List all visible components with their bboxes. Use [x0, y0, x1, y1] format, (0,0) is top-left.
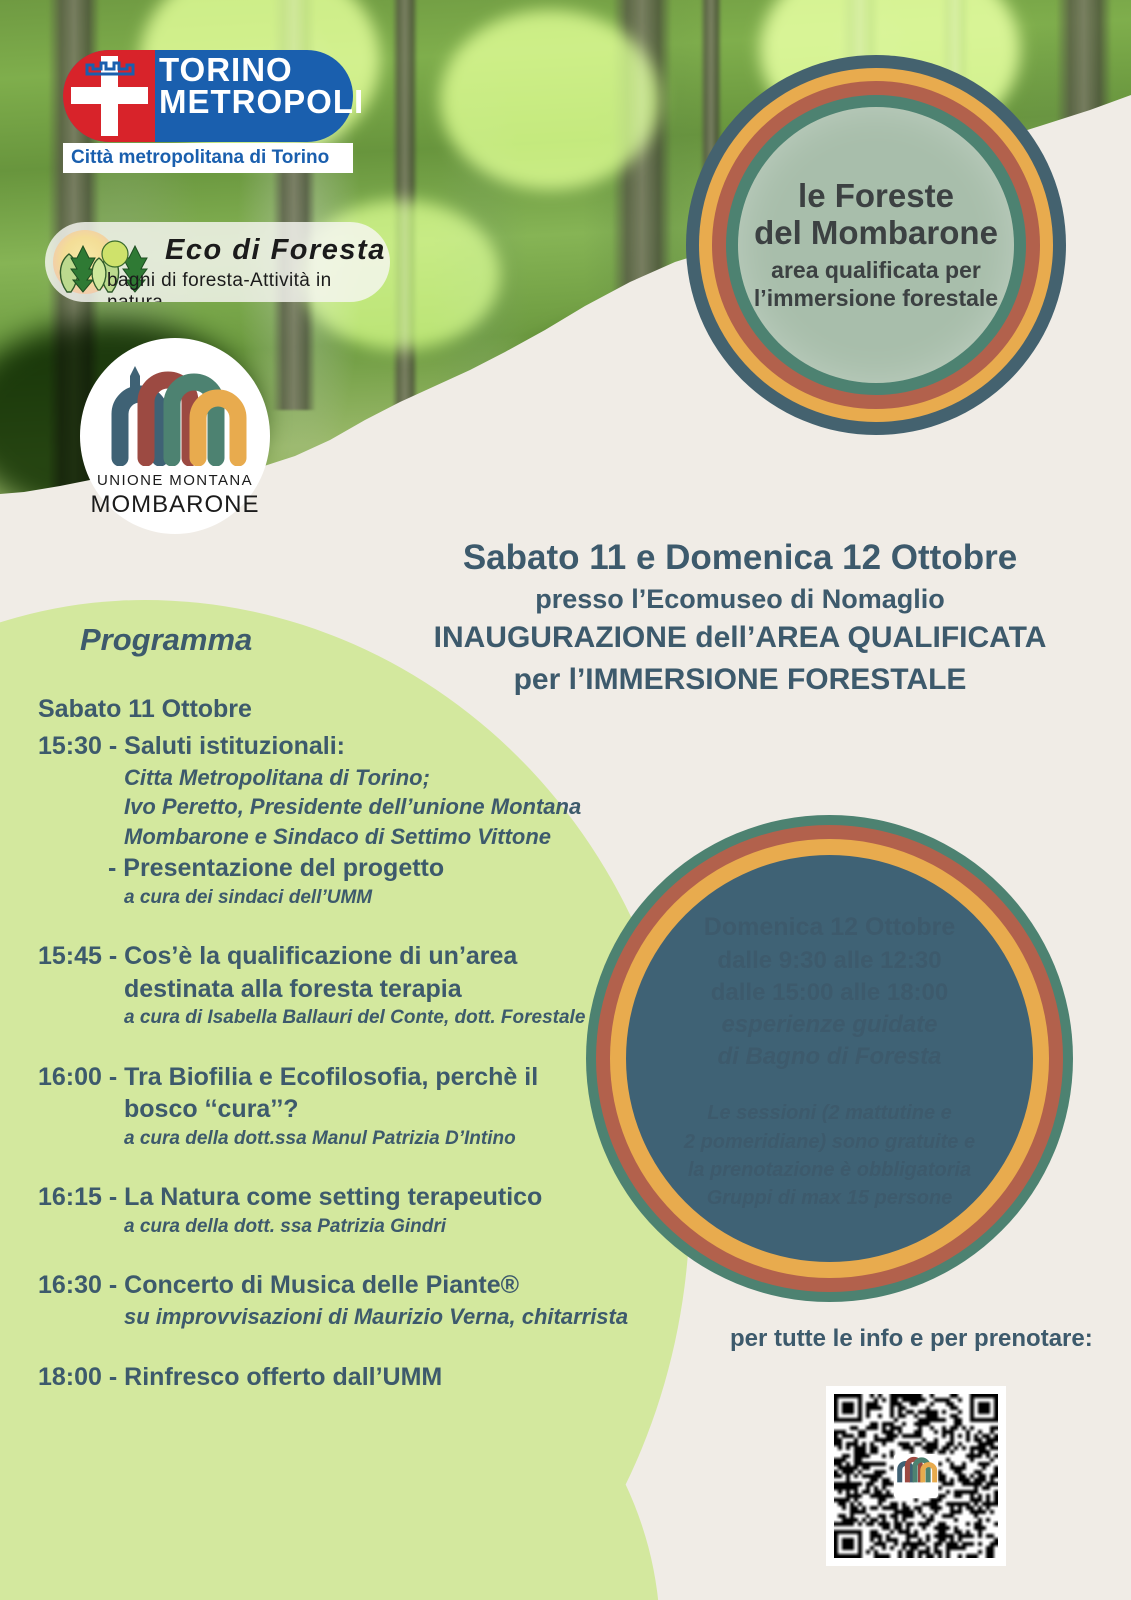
badge-le-foreste-del-mombarone: le Foreste del Mombarone area qualificat… [686, 55, 1066, 435]
badge-bottom-note-3: la prenotazione è obbligatoria [688, 1156, 971, 1184]
badge-bottom-time-2: dalle 15:00 alle 18:00 [711, 977, 949, 1009]
torino-subtitle-bar: Città metropolitana di Torino [63, 143, 353, 173]
event-title-line-1: INAUGURAZIONE dell’AREA QUALIFICATA [395, 617, 1085, 658]
qr-caption: per tutte le info e per prenotare: [730, 1325, 1093, 1353]
programme-slot: 16:30 - Concerto di Musica delle Piante®… [38, 1269, 638, 1331]
event-title-line-2: per l’IMMERSIONE FORESTALE [395, 659, 1085, 700]
badge-bottom-activity-2: di Bagno di Foresta [717, 1041, 941, 1073]
badge-bottom-text: Domenica 12 Ottobre dalle 9:30 alle 12:3… [620, 875, 1039, 1242]
slot-title: Cos’è la qualificazione di un’area [124, 942, 517, 970]
logo-torino-metropoli: TORINO METROPOLI Città metropolitana di … [63, 50, 353, 173]
slot-time-title: 16:15 - La Natura come setting terapeuti… [38, 1181, 638, 1214]
badge-top-line-3: area qualificata per [771, 256, 981, 284]
badge-bottom-note-2: 2 pomeridiane) sono gratuite e [684, 1128, 975, 1156]
slot-sub: a cura della dott. ssa Patrizia Gindri [38, 1214, 638, 1239]
slot-time: 16:00 [38, 1063, 102, 1091]
slot-detail-line: Mombarone e Sindaco di Settimo Vittone [38, 822, 638, 852]
slot-time-title: 16:30 - Concerto di Musica delle Piante® [38, 1269, 638, 1302]
qr-center-logo [894, 1454, 938, 1498]
event-dates: Sabato 11 e Domenica 12 Ottobre [395, 535, 1085, 581]
badge-top-text: le Foreste del Mombarone area qualificat… [714, 115, 1038, 375]
eco-tagline: bagni di foresta-Attività in natura [107, 270, 390, 302]
slot-time-title: 15:30 - Saluti istituzionali: [38, 730, 638, 763]
badge-top-line-4: l’immersione forestale [754, 284, 998, 312]
umm-line-1: UNIONE MONTANA [80, 472, 270, 489]
logo-eco-di-foresta: Eco di Foresta bagni di foresta-Attività… [45, 222, 390, 302]
event-venue: presso l’Ecomuseo di Nomaglio [395, 581, 1085, 618]
torino-crown-icon [85, 60, 135, 77]
badge-bottom-note-1: Le sessioni (2 mattutine e [707, 1099, 952, 1127]
slot-extra-title: - Presentazione del progetto [38, 852, 638, 885]
slot-title: Concerto di Musica delle Piante® [124, 1271, 519, 1299]
slot-title: La Natura come setting terapeutico [124, 1183, 542, 1211]
slot-time-title: 15:45 - Cos’è la qualificazione di un’ar… [38, 940, 638, 1005]
event-heading-block: Sabato 11 e Domenica 12 Ottobre presso l… [395, 535, 1085, 700]
programme-slot: 18:00 - Rinfresco offerto dall’UMM [38, 1361, 638, 1394]
programme-slot: 15:45 - Cos’è la qualificazione di un’ar… [38, 940, 638, 1030]
badge-bottom-activity-1: esperienze guidate [721, 1009, 937, 1041]
programme-day-label: Sabato 11 Ottobre [38, 695, 638, 724]
slot-title: Tra Biofilia e Ecofilosofia, perchè il [124, 1063, 538, 1091]
slot-title-continued: destinata alla foresta terapia [38, 973, 638, 1006]
badge-top-line-1: le Foreste [798, 178, 954, 215]
badge-top-line-2: del Mombarone [754, 215, 998, 252]
programme-slot: 16:00 - Tra Biofilia e Ecofilosofia, per… [38, 1061, 638, 1151]
slot-time: 15:30 [38, 732, 102, 760]
slot-sub: a cura di Isabella Ballauri del Conte, d… [38, 1005, 638, 1030]
badge-domenica-12-ottobre: Domenica 12 Ottobre dalle 9:30 alle 12:3… [586, 815, 1073, 1302]
slot-time: 16:15 [38, 1183, 102, 1211]
slot-time-title: 18:00 - Rinfresco offerto dall’UMM [38, 1361, 638, 1394]
programme-list: Sabato 11 Ottobre 15:30 - Saluti istituz… [38, 695, 638, 1398]
umm-line-2: MOMBARONE [80, 491, 270, 519]
slot-time: 15:45 [38, 942, 102, 970]
slot-extra-sub: a cura dei sindaci dell’UMM [38, 885, 638, 910]
badge-bottom-note-4: Gruppi di max 15 persone [707, 1184, 953, 1212]
torino-line-1: TORINO [159, 54, 353, 86]
eco-wordmark: Eco di Foresta [165, 234, 386, 267]
slot-time-title: 16:00 - Tra Biofilia e Ecofilosofia, per… [38, 1061, 638, 1126]
umm-monogram-icon [102, 362, 248, 466]
torino-line-2: METROPOLI [159, 86, 353, 118]
slot-title-continued: bosco ‘‘cura’’? [38, 1093, 638, 1126]
slot-time: 18:00 [38, 1363, 102, 1391]
slot-sub: su improvvisazioni di Maurizio Verna, ch… [38, 1302, 638, 1332]
programme-heading: Programma [80, 622, 252, 658]
qr-code[interactable] [826, 1386, 1006, 1566]
torino-subtitle: Città metropolitana di Torino [71, 147, 329, 169]
badge-bottom-time-1: dalle 9:30 alle 12:30 [717, 945, 941, 977]
slot-detail-line: Citta Metropolitana di Torino; [38, 763, 638, 793]
slot-sub: a cura della dott.ssa Manul Patrizia D’I… [38, 1126, 638, 1151]
logo-unione-montana-mombarone: UNIONE MONTANA MOMBARONE [80, 338, 270, 534]
torino-wordmark: TORINO METROPOLI [159, 54, 353, 117]
slot-time: 16:30 [38, 1271, 102, 1299]
poster-root: TORINO METROPOLI Città metropolitana di … [0, 0, 1131, 1600]
slot-detail-line: Ivo Peretto, Presidente dell’unione Mont… [38, 792, 638, 822]
slot-title: Rinfresco offerto dall’UMM [124, 1363, 442, 1391]
programme-slot: 15:30 - Saluti istituzionali: Citta Metr… [38, 730, 638, 910]
programme-slot: 16:15 - La Natura come setting terapeuti… [38, 1181, 638, 1239]
badge-bottom-day: Domenica 12 Ottobre [704, 911, 955, 945]
slot-title: Saluti istituzionali: [124, 732, 345, 760]
